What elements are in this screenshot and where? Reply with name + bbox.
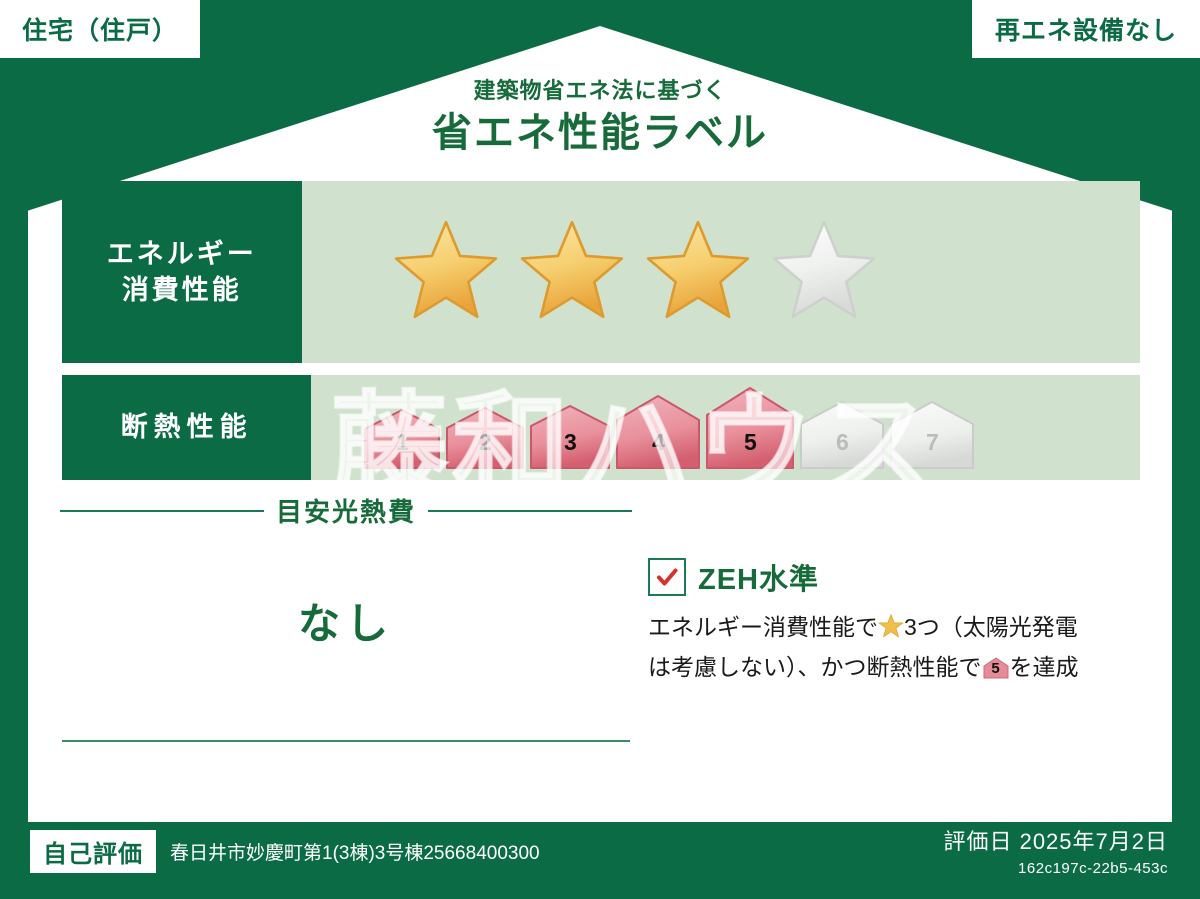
house-icon-inline: 5 (982, 655, 1010, 679)
badge-self-evaluation: 自己評価 (30, 830, 156, 873)
star-icon-empty (772, 218, 876, 327)
star-rating (302, 181, 1140, 363)
zeh-desc-part3: を達成 (1010, 654, 1079, 680)
zeh-desc-part2: は考慮しない）、かつ断熱性能で (648, 654, 982, 680)
row-energy-label-line1: エネルギー (107, 236, 257, 272)
row-energy-label: エネルギー 消費性能 (62, 181, 302, 363)
title-subtitle: 建築物省エネ法に基づく (0, 78, 1200, 104)
zeh-description: エネルギー消費性能で 3つ（太陽光発電 は考慮しない）、かつ断熱性能で 5 を達… (648, 610, 1148, 685)
house-rating-scale: 1234567 (363, 386, 975, 470)
house-icon-active: 4 (615, 394, 701, 470)
title-block: 建築物省エネ法に基づく 省エネ性能ラベル (0, 78, 1200, 158)
cost-section-title: 目安光熱費 (276, 492, 416, 529)
row-insulation-performance: 断熱性能 1234567 (62, 375, 1140, 480)
check-icon (648, 558, 686, 596)
row-insulation-label: 断熱性能 (62, 375, 311, 480)
divider-right (428, 510, 632, 512)
house-icon-inactive: 6 (799, 400, 885, 470)
page-title: 省エネ性能ラベル (0, 108, 1200, 158)
star-icon-filled (520, 218, 624, 327)
row-energy-performance: エネルギー 消費性能 (62, 181, 1140, 363)
house-icon-active: 2 (445, 406, 525, 470)
energy-label-root: 住宅（住戸） 再エネ設備なし 建築物省エネ法に基づく 省エネ性能ラベル エネルギ… (0, 0, 1200, 899)
cost-section-header: 目安光熱費 (60, 492, 632, 529)
zeh-desc-part1: エネルギー消費性能で (648, 614, 878, 640)
cost-underline (62, 740, 630, 742)
cost-value: なし (60, 590, 632, 651)
zeh-desc-stars: 3つ（太陽光発電 (904, 614, 1078, 640)
house-icon-active: 1 (363, 408, 441, 470)
property-address: 春日井市妙慶町第1(3棟)3号棟25668400300 (170, 838, 540, 865)
star-icon-inline (878, 613, 904, 650)
evaluation-date: 評価日 2025年7月2日 (943, 824, 1168, 856)
house-icon-inactive: 7 (889, 400, 975, 470)
badge-building-type: 住宅（住戸） (0, 0, 200, 58)
zeh-title: ZEH水準 (698, 556, 819, 598)
footer-right: 評価日 2025年7月2日 162c197c-22b5-453c (943, 824, 1168, 877)
star-icon-filled (646, 218, 750, 327)
badge-renewable-energy: 再エネ設備なし (972, 0, 1200, 58)
star-icon-filled (394, 218, 498, 327)
house-icon-active: 3 (529, 404, 611, 470)
house-icon-active: 5 (705, 386, 795, 470)
zeh-header: ZEH水準 (648, 556, 1148, 598)
footer-left: 自己評価 春日井市妙慶町第1(3棟)3号棟25668400300 (30, 830, 540, 873)
evaluation-id: 162c197c-22b5-453c (943, 860, 1168, 877)
divider-left (60, 510, 264, 512)
zeh-block: ZEH水準 エネルギー消費性能で 3つ（太陽光発電 は考慮しない）、かつ断熱性能… (648, 556, 1148, 685)
row-energy-label-line2: 消費性能 (122, 272, 242, 308)
house-icon-inline-level: 5 (982, 655, 1010, 679)
insulation-rating-body: 1234567 (311, 375, 1140, 480)
